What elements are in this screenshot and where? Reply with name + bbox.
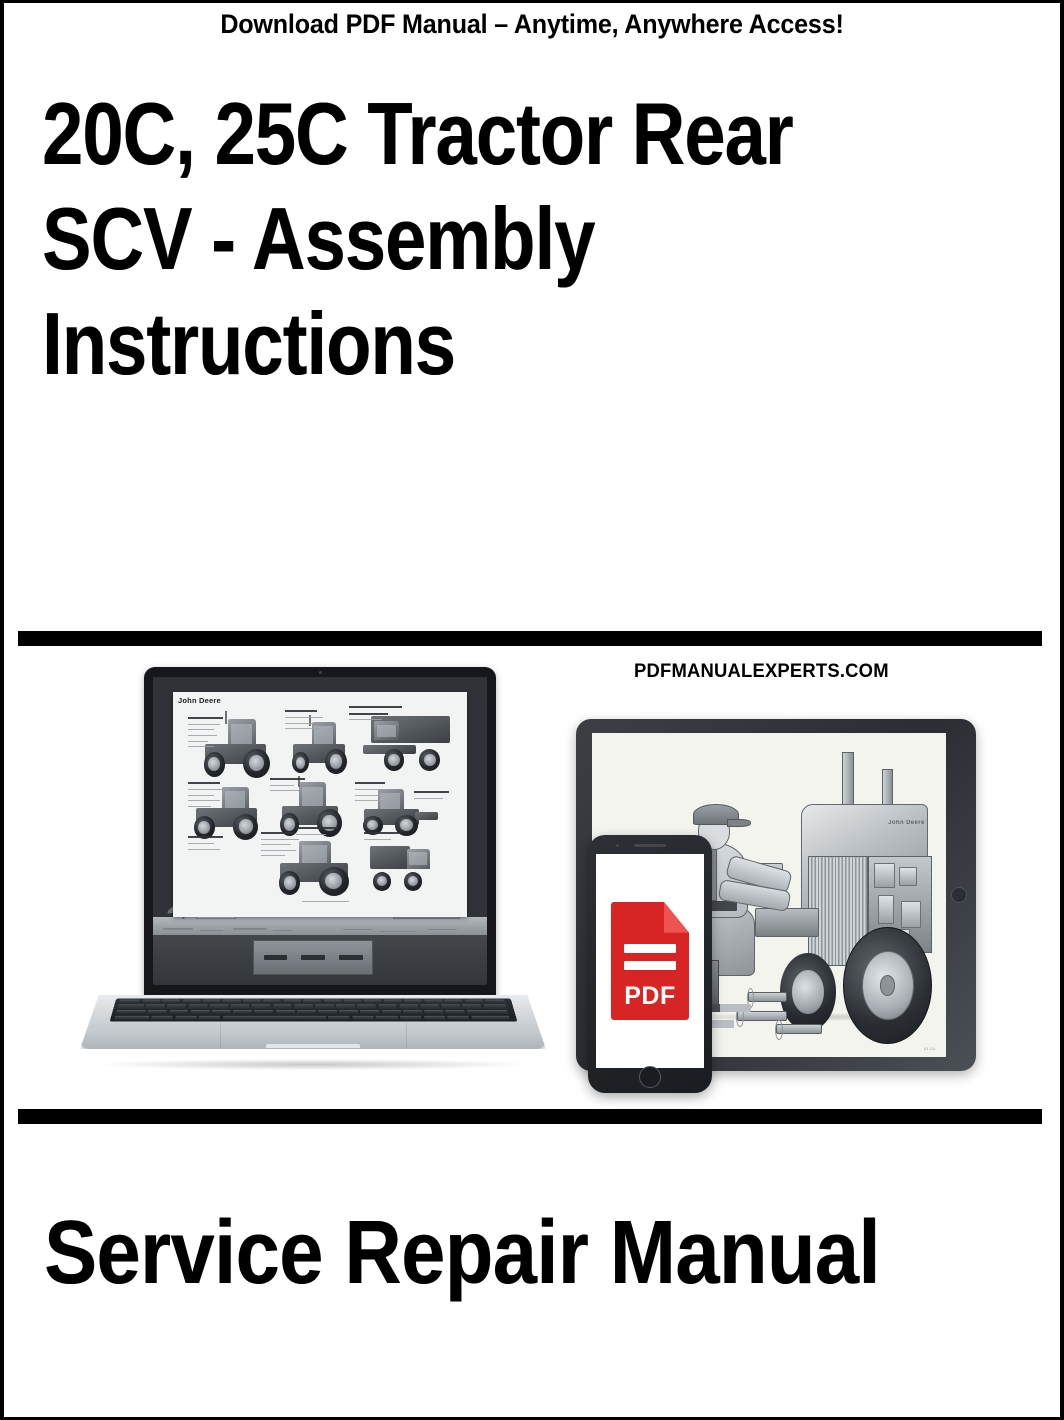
pdf-icon-folded-corner	[664, 902, 689, 933]
tractor-rear-wheel	[843, 927, 932, 1044]
workshop-desk	[153, 917, 487, 985]
laptop-trackpad-notch	[266, 1044, 359, 1048]
laptop-deck	[80, 995, 546, 1049]
laptop-screen: John Deere	[153, 677, 487, 985]
laptop-webcam	[319, 671, 322, 674]
page-title: 20C, 25C Tractor Rear SCV - Assembly Ins…	[42, 81, 1002, 396]
divider-notch	[1042, 636, 1044, 641]
manual-cover-page: Download PDF Manual – Anytime, Anywhere …	[0, 0, 1064, 1420]
illustration-page-code: 01.01	[924, 1046, 936, 1051]
tractor-front-wheel	[780, 953, 837, 1031]
tractor-front-axle	[755, 908, 819, 937]
phone-icon: PDF	[588, 835, 712, 1093]
tractor-spec-poster: John Deere	[173, 692, 467, 917]
page-title-line-1: 20C, 25C Tractor Rear	[42, 81, 848, 186]
phone-screen: PDF	[596, 854, 704, 1068]
desk-drawer	[253, 940, 373, 975]
wrench-icon-2	[776, 1024, 822, 1034]
laptop-shadow	[98, 1059, 528, 1070]
phone-front-camera	[616, 844, 619, 847]
pdf-icon-label: PDF	[611, 982, 689, 1011]
tablet-home-button[interactable]	[951, 887, 967, 903]
divider-bottom	[18, 1109, 1042, 1124]
divider-top	[18, 631, 1042, 646]
tractor-hood-brand-label: John Deere	[888, 820, 925, 826]
laptop-icon: John Deere	[58, 661, 568, 1081]
bottom-headline: Service Repair Manual	[44, 1205, 880, 1301]
poster-brand-label: John Deere	[178, 696, 221, 705]
laptop-lid: John Deere	[144, 667, 496, 1001]
screwdriver-icon-2	[709, 1004, 751, 1012]
tractor-exhaust-stack	[842, 752, 854, 810]
device-mockup-group: John Deere	[18, 651, 1042, 1103]
laptop-keyboard	[109, 999, 516, 1022]
phone-home-button[interactable]	[639, 1066, 661, 1088]
page-title-line-2: SCV - Assembly	[42, 186, 848, 291]
divider-notch-lower	[1042, 643, 1044, 647]
desk-surface	[153, 917, 487, 935]
phone-speaker-grille	[634, 844, 666, 847]
pdf-icon-line-2	[624, 961, 675, 970]
wrench-icon-3	[748, 992, 787, 1002]
pdf-icon-line-1	[624, 944, 675, 953]
header-banner-text: Download PDF Manual – Anytime, Anywhere …	[41, 9, 1023, 40]
page-title-line-3: Instructions	[42, 291, 848, 396]
pdf-file-icon: PDF	[611, 902, 689, 1020]
laptop-base	[58, 995, 568, 1061]
mechanic-cap-bill	[727, 819, 752, 827]
